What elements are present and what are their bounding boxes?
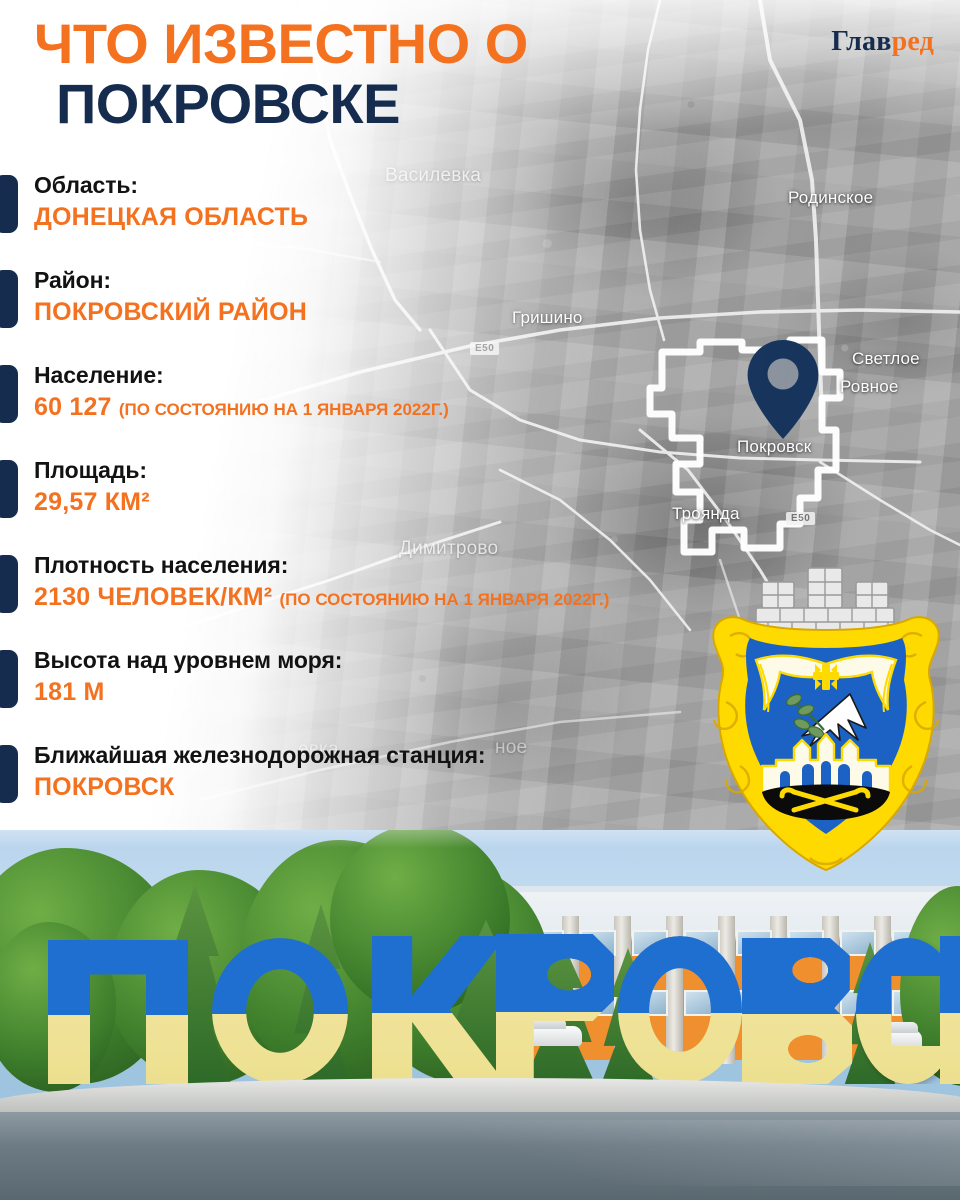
fact-value-text: 2130 ЧЕЛОВЕК/КМ²: [34, 583, 272, 611]
fact-label: Высота над уровнем моря:: [34, 647, 342, 674]
fact-value-note: (ПО СОСТОЯНИЮ НА 1 ЯНВАРЯ 2022Г.): [280, 590, 610, 609]
fact-row-rayon: Район: ПОКРОВСКИЙ РАЙОН: [0, 267, 960, 362]
logo-text-red: ред: [892, 26, 934, 57]
cross-icon: [813, 664, 839, 690]
fact-value-text: ПОКРОВСКИЙ РАЙОН: [34, 298, 307, 326]
fact-value: ПОКРОВСКИЙ РАЙОН: [34, 298, 307, 327]
coat-of-arms-icon: [690, 552, 960, 874]
bullet-marker-icon: [0, 175, 18, 233]
fact-label: Район:: [34, 267, 111, 294]
fact-label: Плотность населения:: [34, 552, 288, 579]
letter-sculpture-o: [212, 938, 348, 1084]
fact-row-area: Площадь: 29,57 КМ²: [0, 457, 960, 552]
fact-row-oblast: Область: ДОНЕЦКАЯ ОБЛАСТЬ: [0, 172, 960, 267]
fact-value-text: 29,57 КМ²: [34, 488, 150, 516]
letter-sculpture-k: [372, 936, 506, 1084]
bullet-marker-icon: [0, 460, 18, 518]
letter-sculpture-o: [618, 936, 742, 1084]
city-entrance-photo: [0, 830, 960, 1200]
bullet-marker-icon: [0, 365, 18, 423]
letter-sculpture-p: [48, 940, 188, 1084]
fact-value-text: ДОНЕЦКАЯ ОБЛАСТЬ: [34, 203, 308, 231]
fact-value-text: 60 127: [34, 393, 112, 421]
fact-value: 2130 ЧЕЛОВЕК/КМ² (ПО СОСТОЯНИЮ НА 1 ЯНВА…: [34, 583, 609, 612]
fact-value: 60 127 (ПО СОСТОЯНИЮ НА 1 ЯНВАРЯ 2022Г.): [34, 393, 449, 422]
fact-value: 181 М: [34, 678, 104, 707]
bullet-marker-icon: [0, 650, 18, 708]
bullet-marker-icon: [0, 745, 18, 803]
page-title: ЧТО ИЗВЕСТНО О ПОКРОВСКЕ: [34, 14, 528, 134]
letter-sculpture-r: [496, 934, 614, 1084]
letter-sculpture-k: [940, 936, 960, 1084]
fact-value-text: ПОКРОВСК: [34, 773, 174, 801]
bullet-marker-icon: [0, 270, 18, 328]
fact-label: Область:: [34, 172, 138, 199]
fact-value-text: 181 М: [34, 678, 104, 706]
fact-label: Площадь:: [34, 457, 147, 484]
infographic-poster: Василевка Родинское Гришино Светлое Ровн…: [0, 0, 960, 1200]
bullet-marker-icon: [0, 555, 18, 613]
title-line-1: ЧТО ИЗВЕСТНО О: [34, 14, 528, 74]
glavred-logo[interactable]: Главред: [831, 26, 934, 58]
title-line-2: ПОКРОВСКЕ: [34, 74, 528, 134]
fact-value-note: (ПО СОСТОЯНИЮ НА 1 ЯНВАРЯ 2022Г.): [119, 400, 449, 419]
fact-label: Ближайшая железнодорожная станция:: [34, 742, 485, 769]
pokrovsk-letter-sculptures: [0, 928, 960, 1084]
fact-value: ДОНЕЦКАЯ ОБЛАСТЬ: [34, 203, 308, 232]
letter-sculpture-v: [742, 938, 852, 1084]
fact-value: 29,57 КМ²: [34, 488, 150, 517]
mural-crown: [756, 568, 894, 636]
logo-text-glav: Глав: [831, 26, 891, 57]
fact-value: ПОКРОВСК: [34, 773, 174, 802]
fact-row-population: Население: 60 127 (ПО СОСТОЯНИЮ НА 1 ЯНВ…: [0, 362, 960, 457]
foreground-wall: [0, 1112, 960, 1200]
fact-label: Население:: [34, 362, 164, 389]
